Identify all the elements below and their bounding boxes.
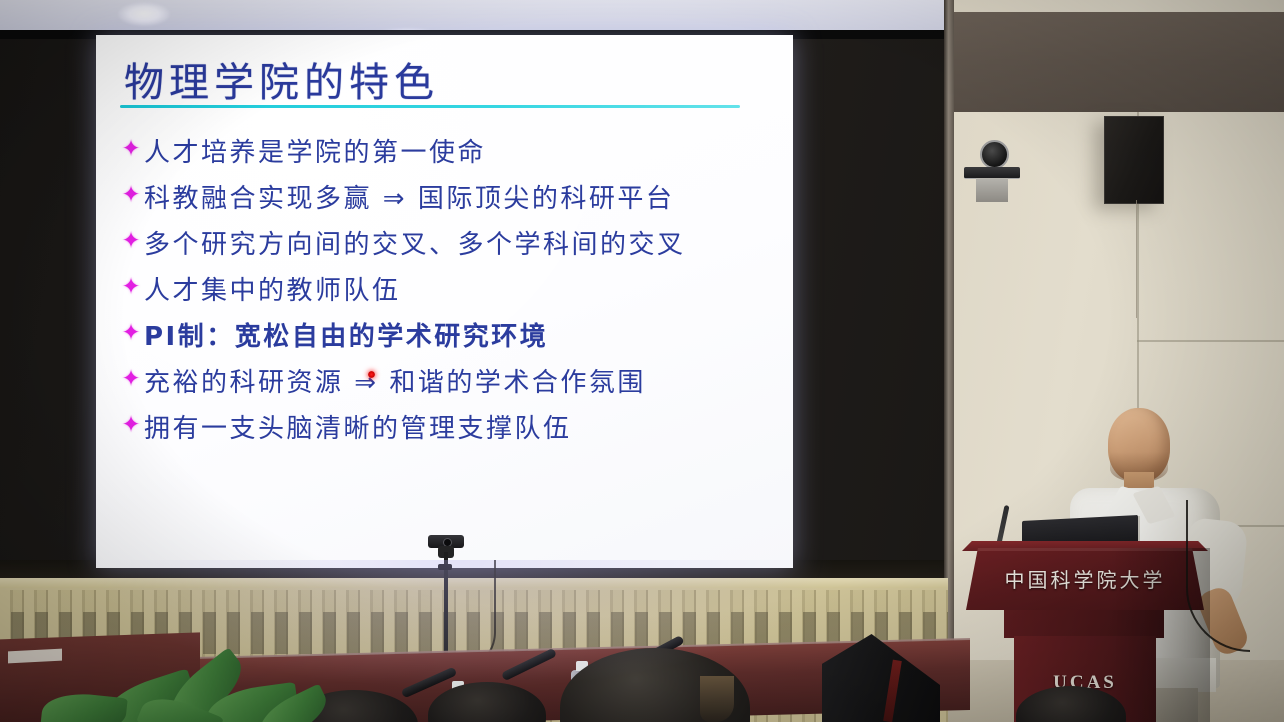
video-conference-camera-icon [964,140,1020,202]
list-item-label: PI制：宽松自由的学术研究环境 [144,316,548,353]
list-item: ✦ 人才集中的教师队伍 [118,265,778,311]
audience-hair [700,676,734,722]
diamond-bullet-icon: ✦ [118,322,144,345]
laser-pointer-dot-icon [368,371,375,378]
projected-slide: 物理学院的特色 ✦ 人才培养是学院的第一使命 ✦ 科教融合实现多赢 ⇒ 国际顶尖… [96,35,793,568]
list-item: ✦ PI制：宽松自由的学术研究环境 [118,311,778,357]
list-item: ✦ 人才培养是学院的第一使命 [118,127,778,173]
camera-wall-mount [976,178,1008,202]
list-item-label: 拥有一支头脑清晰的管理支撑队伍 [144,408,572,445]
diamond-bullet-icon: ✦ [118,414,144,437]
list-item-label: 充裕的科研资源 ⇒ 和谐的学术合作氛围 [144,362,646,399]
slide-title: 物理学院的特色 [124,50,439,108]
list-item-label: 人才培养是学院的第一使命 [144,132,486,169]
list-item: ✦ 拥有一支头脑清晰的管理支撑队伍 [118,403,778,449]
list-item-label: 科教融合实现多赢 ⇒ 国际顶尖的科研平台 [144,178,674,215]
list-item: ✦ 充裕的科研资源 ⇒ 和谐的学术合作氛围 [118,357,778,403]
speaker-cable [1136,200,1137,318]
wall-seam [1137,340,1284,342]
wall-loudspeaker-icon [1104,116,1164,204]
diamond-bullet-icon: ✦ [118,230,144,253]
slide-bullet-list: ✦ 人才培养是学院的第一使命 ✦ 科教融合实现多赢 ⇒ 国际顶尖的科研平台 ✦ … [118,127,778,449]
camera-lens-icon [980,140,1009,169]
diamond-bullet-icon: ✦ [118,138,144,161]
ceiling-spotlight-icon [118,2,170,26]
diamond-bullet-icon: ✦ [118,276,144,299]
list-item: ✦ 多个研究方向间的交叉、多个学科间的交叉 [118,219,778,265]
potted-plant [30,662,330,722]
title-underline [120,105,740,108]
list-item-label: 人才集中的教师队伍 [144,270,401,307]
list-item-label: 多个研究方向间的交叉、多个学科间的交叉 [144,224,686,261]
list-item: ✦ 科教融合实现多赢 ⇒ 国际顶尖的科研平台 [118,173,778,219]
wall-header-band [944,12,1284,112]
lecture-photo-scene: 物理学院的特色 ✦ 人才培养是学院的第一使命 ✦ 科教融合实现多赢 ⇒ 国际顶尖… [0,0,1284,722]
diamond-bullet-icon: ✦ [118,184,144,207]
diamond-bullet-icon: ✦ [118,368,144,391]
plant-leaf [40,690,128,722]
